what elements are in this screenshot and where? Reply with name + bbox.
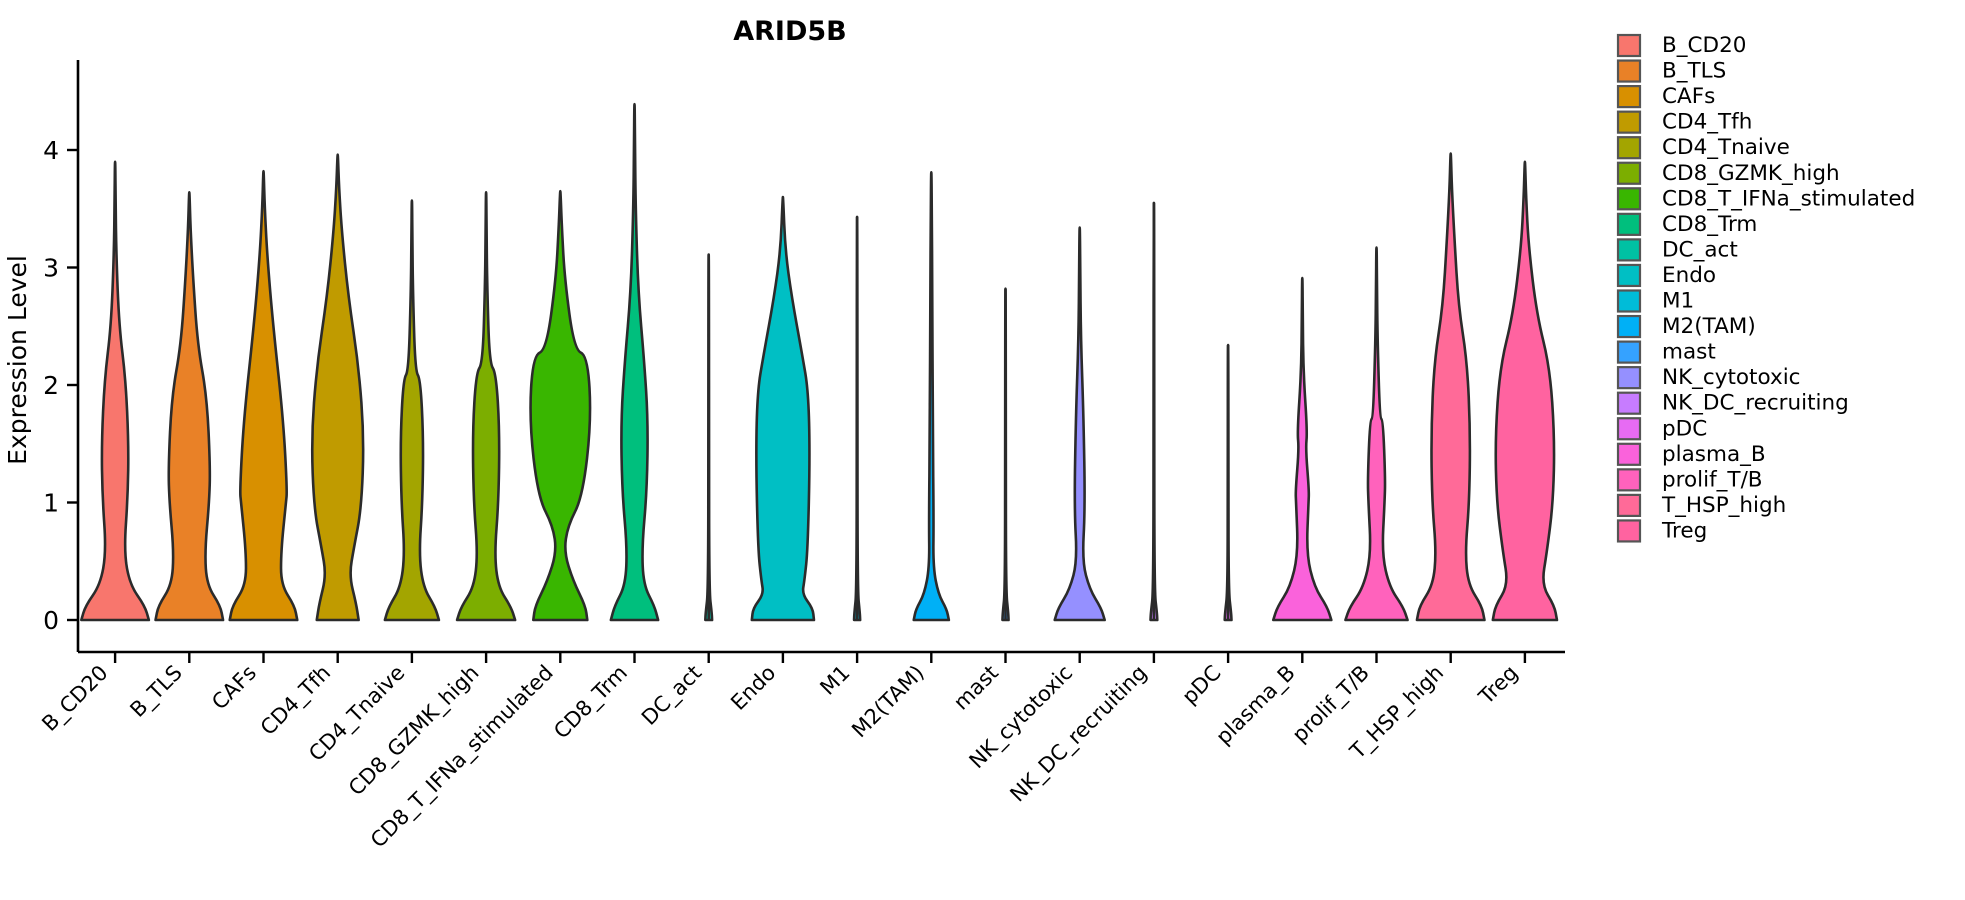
violin-Treg[interactable] [1493,162,1557,620]
y-tick-label: 4 [43,136,59,165]
x-tick-label-mast: mast [949,661,1003,715]
legend-swatch-NK_DC_recruiting[interactable] [1618,393,1640,414]
violin-CAFs[interactable] [230,171,298,620]
figure-canvas: ARID5B01234Expression LevelB_CD20B_TLSCA… [0,0,1965,900]
x-tick-label-Endo: Endo [726,661,780,715]
x-tick-label-NK_DC_recruiting: NK_DC_recruiting [1005,661,1152,808]
legend-label-Endo: Endo [1662,263,1716,288]
x-tick-label-Treg: Treg [1474,661,1523,710]
x-tick-label-DC_act: DC_act [637,661,707,731]
legend-swatch-M2(TAM)[interactable] [1618,316,1640,337]
violin-plot-figure: ARID5B01234Expression LevelB_CD20B_TLSCA… [0,0,1965,900]
violin-CD8_Trm[interactable] [611,104,658,620]
legend-label-Treg: Treg [1661,518,1707,543]
chart-title: ARID5B [733,16,847,47]
legend-swatch-CD4_Tnaive[interactable] [1618,137,1640,158]
violin-M2(TAM)[interactable] [914,172,949,620]
legend-swatch-pDC[interactable] [1618,418,1640,439]
legend-label-mast: mast [1662,340,1716,365]
legend-swatch-B_TLS[interactable] [1618,61,1640,82]
legend-swatch-Treg[interactable] [1618,520,1640,541]
violin-CD8_GZMK_high[interactable] [457,192,515,620]
legend-label-CD8_T_IFNa_stimulated: CD8_T_IFNa_stimulated [1662,186,1915,211]
x-tick-label-plasma_B: plasma_B [1211,661,1300,750]
legend-label-DC_act: DC_act [1662,237,1738,262]
violin-B_TLS[interactable] [156,192,224,620]
violin-CD8_T_IFNa_stimulated[interactable] [531,191,591,620]
x-tick-label-pDC: pDC [1177,661,1225,709]
legend-swatch-B_CD20[interactable] [1618,35,1640,56]
violin-plasma_B[interactable] [1273,278,1331,620]
legend-swatch-DC_act[interactable] [1618,239,1640,260]
violin-CD4_Tfh[interactable] [312,155,363,620]
legend-swatch-prolif_T/B[interactable] [1618,469,1640,490]
y-tick-label: 2 [43,371,59,400]
legend-label-CD4_Tnaive: CD4_Tnaive [1662,135,1790,160]
legend-label-B_CD20: B_CD20 [1662,33,1746,58]
x-tick-label-M2(TAM): M2(TAM) [847,661,929,743]
legend-label-T_HSP_high: T_HSP_high [1661,493,1786,518]
legend-swatch-mast[interactable] [1618,342,1640,363]
legend-label-NK_DC_recruiting: NK_DC_recruiting [1662,391,1849,416]
x-tick-label-CAFs: CAFs [207,661,261,715]
violin-prolif_T/B[interactable] [1345,248,1407,620]
y-tick-label: 0 [43,606,59,635]
legend-swatch-M1[interactable] [1618,291,1640,312]
legend-label-CD4_Tfh: CD4_Tfh [1662,110,1752,135]
violin-NK_cytotoxic[interactable] [1055,228,1105,620]
x-tick-label-M1: M1 [815,661,854,700]
legend-swatch-CD8_Trm[interactable] [1618,214,1640,235]
violin-B_CD20[interactable] [81,162,149,620]
legend-swatch-plasma_B[interactable] [1618,444,1640,465]
legend-swatch-T_HSP_high[interactable] [1618,495,1640,516]
legend-swatch-CD4_Tfh[interactable] [1618,112,1640,133]
y-tick-label: 3 [43,254,59,283]
legend-label-CD8_GZMK_high: CD8_GZMK_high [1662,161,1840,186]
violin-CD4_Tnaive[interactable] [385,201,439,620]
legend-label-pDC: pDC [1662,416,1707,441]
y-tick-label: 1 [43,489,59,518]
legend-label-CAFs: CAFs [1662,84,1715,109]
legend-label-B_TLS: B_TLS [1662,59,1726,84]
y-axis-label: Expression Level [3,255,32,465]
legend-swatch-CAFs[interactable] [1618,86,1640,107]
legend-swatch-NK_cytotoxic[interactable] [1618,367,1640,388]
legend-label-M1: M1 [1662,289,1694,314]
legend: B_CD20B_TLSCAFsCD4_TfhCD4_TnaiveCD8_GZMK… [1618,33,1915,543]
legend-swatch-Endo[interactable] [1618,265,1640,286]
legend-swatch-CD8_T_IFNa_stimulated[interactable] [1618,188,1640,209]
legend-label-M2(TAM): M2(TAM) [1662,314,1756,339]
x-tick-label-CD8_GZMK_high: CD8_GZMK_high [344,661,484,801]
violin-Endo[interactable] [752,197,814,620]
legend-swatch-CD8_GZMK_high[interactable] [1618,163,1640,184]
x-tick-label-B_CD20: B_CD20 [37,661,113,737]
x-tick-label-B_TLS: B_TLS [125,661,187,723]
violins-group [81,104,1557,620]
legend-label-prolif_T/B: prolif_T/B [1662,467,1763,492]
violin-T_HSP_high[interactable] [1417,154,1485,620]
x-tick-label-CD8_Trm: CD8_Trm [549,661,633,745]
legend-label-plasma_B: plasma_B [1662,442,1766,467]
legend-label-NK_cytotoxic: NK_cytotoxic [1662,365,1801,390]
legend-label-CD8_Trm: CD8_Trm [1662,212,1757,237]
